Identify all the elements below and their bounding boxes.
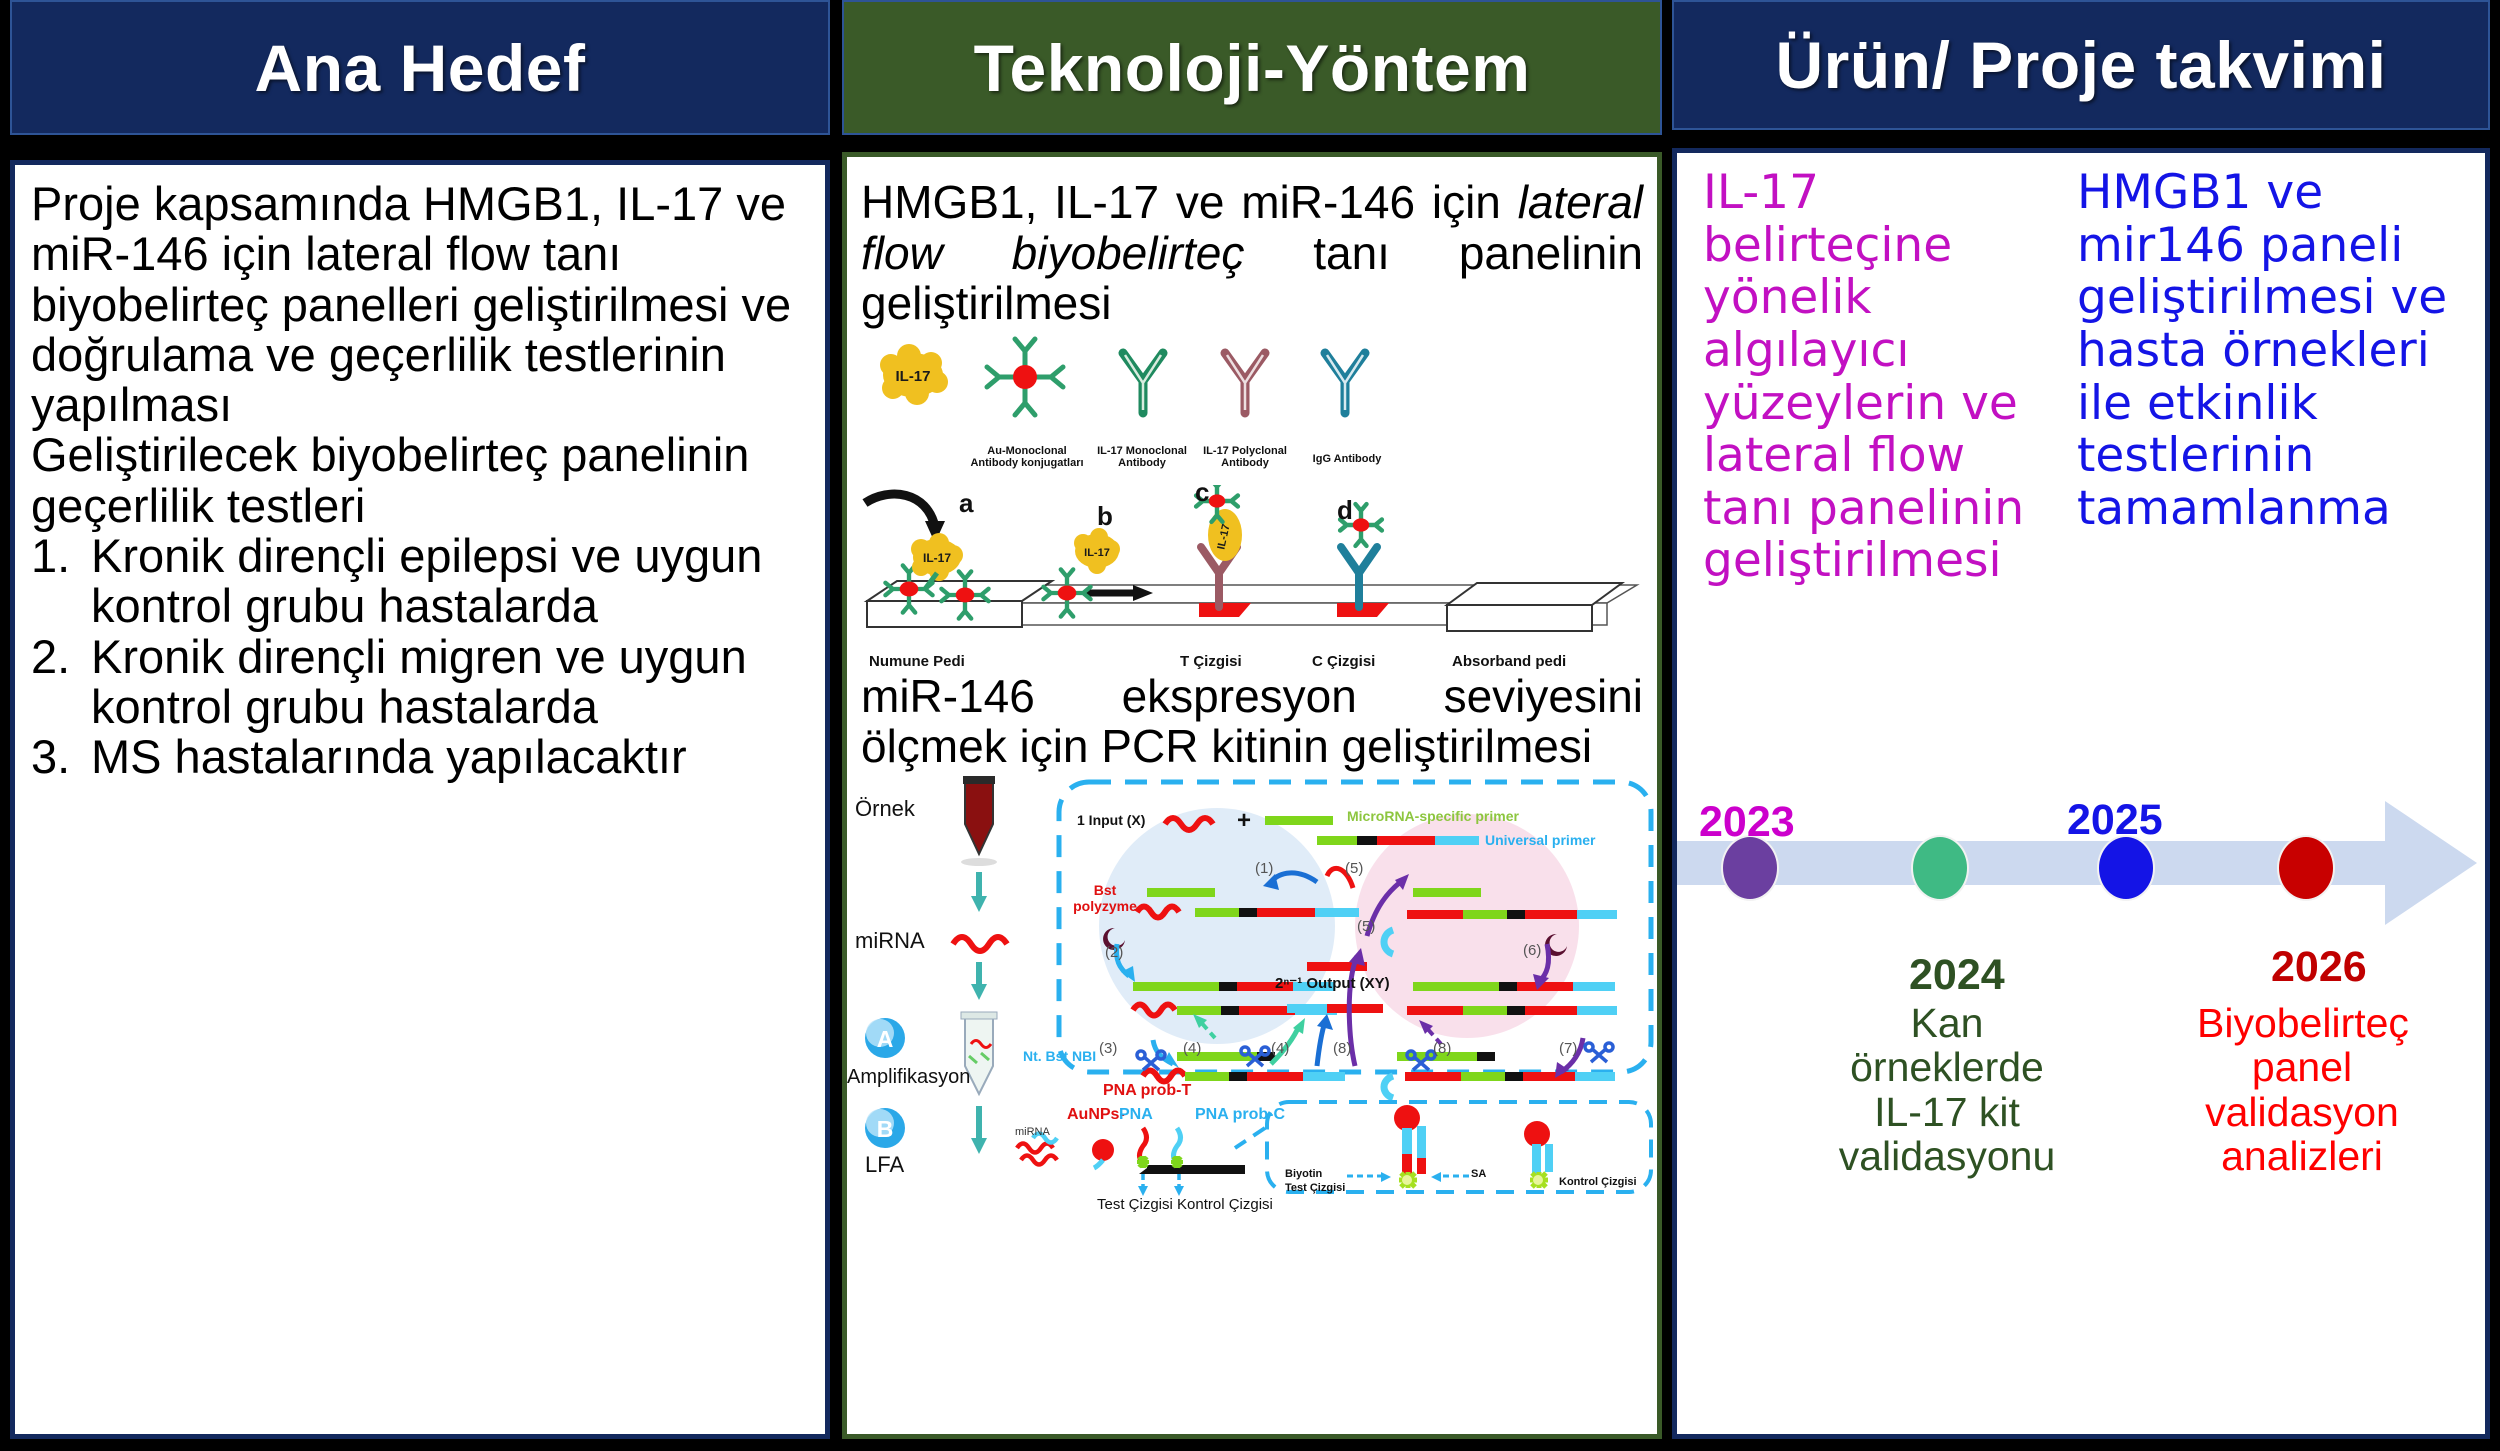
list-item-number: 2. [31, 632, 91, 733]
teknoloji-paragraph-1: HMGB1, IL-17 ve miR-146 için lateral flo… [847, 157, 1657, 329]
list-item-label: Kronik dirençli epilepsi ve uygun kontro… [91, 531, 809, 632]
step-letter-a: a [959, 488, 974, 518]
antibody-legend: IL-17 [880, 339, 1365, 415]
svg-text:+: + [1237, 807, 1251, 834]
lfa-label-pna-prob-t: PNA prob-T [1103, 1082, 1191, 1100]
panel-label-input: 1 Input (X) [1077, 812, 1145, 828]
milestone-dot-2026 [2277, 835, 2335, 901]
inset-label-test-cizgisi: Test Çizgisi [1285, 1182, 1345, 1194]
lfa-label-aunps: AuNPs- [1067, 1106, 1125, 1124]
lfa-label-test-cizgisi: Test Çizgisi [1097, 1196, 1173, 1213]
panel-label-nt-bst-nbi: Nt. Bst NBI [1023, 1048, 1096, 1064]
legend-label-au-monoclonal: Au-Monoclonal Antibody konjugatları [967, 445, 1087, 470]
legend-label-il17-monoclonal: IL-17 Monoclonal Antibody [1092, 445, 1192, 470]
svg-text:IL-17: IL-17 [895, 368, 930, 385]
step-letter-d: d [1337, 495, 1353, 525]
description-hmgb1-mir146: HMGB1 ve mir146 paneli geliştirilmesi ve… [2077, 167, 2457, 535]
column-ana-hedef: Ana Hedef Proje kapsamında HMGB1, IL-17 … [10, 0, 830, 1451]
list-item-label: Kronik dirençli migren ve uygun kontrol … [91, 632, 809, 733]
timeline-descriptions: IL-17 belirteçine yönelik algılayıcı yüz… [1677, 167, 2485, 737]
lfa-label-pna: PNA [1119, 1106, 1153, 1124]
step-number-8b: (8) [1433, 1040, 1451, 1057]
ana-hedef-numbered-list: 1. Kronik dirençli epilepsi ve uygun kon… [31, 531, 809, 782]
header-teknoloji-yontem-label: Teknoloji-Yöntem [974, 30, 1531, 106]
lateral-flow-assay-figure: IL-17 [847, 335, 1657, 665]
panel-takvim-body: IL-17 belirteçine yönelik algılayıcı yüz… [1672, 148, 2490, 1439]
list-item-number: 1. [31, 531, 91, 632]
strip-label-absorband-pedi: Absorband pedi [1452, 653, 1566, 670]
header-teknoloji-yontem: Teknoloji-Yöntem [842, 0, 1662, 135]
step-letter-b: b [1097, 501, 1113, 531]
column-urun-proje-takvimi: Ürün/ Proje takvimi IL-17 belirteçine yö… [1672, 0, 2490, 1451]
panel-ana-hedef-body: Proje kapsamında HMGB1, IL-17 ve miR-146… [10, 160, 830, 1439]
step-number-5b: (5) [1357, 918, 1375, 935]
step-number-7: (7) [1559, 1040, 1577, 1057]
svg-text:B: B [877, 1116, 894, 1142]
workflow-label-mirna: miRNA [855, 928, 925, 954]
milestone-dot-2024 [1911, 835, 1969, 901]
lfa-label-mirna: miRNA [1015, 1126, 1050, 1138]
milestone-year-2026: 2026 [2271, 943, 2367, 992]
strip-label-c-cizgisi: C Çizgisi [1312, 653, 1375, 670]
step-number-2: (2) [1105, 944, 1123, 961]
milestone-year-2023: 2023 [1699, 798, 1795, 847]
description-il17: IL-17 belirteçine yönelik algılayıcı yüz… [1703, 167, 2053, 588]
il17-blob-b: IL-17 [1074, 528, 1120, 574]
para2-italic: PCR [1101, 720, 1198, 772]
panel-label-output: 2ⁿ⁻¹ Output (XY) [1275, 974, 1390, 992]
list-item-label: MS hastalarında yapılacaktır [91, 732, 809, 782]
il17-blob-legend: IL-17 [880, 344, 948, 405]
svg-text:IL-17: IL-17 [923, 551, 951, 565]
ana-hedef-text: Proje kapsamında HMGB1, IL-17 ve miR-146… [15, 165, 825, 782]
workflow-label-lfa: LFA [865, 1152, 904, 1178]
workflow-left-column: A B [865, 776, 1007, 1154]
strip-label-numune-pedi: Numune Pedi [869, 653, 965, 670]
header-urun-proje-takvimi: Ürün/ Proje takvimi [1672, 0, 2490, 130]
panel-label-universal-primer: Universal primer [1485, 832, 1596, 848]
list-item: 1. Kronik dirençli epilepsi ve uygun kon… [31, 531, 809, 632]
au-conjugate-icon [987, 339, 1063, 415]
milestone-caption-2026: Biyobelirteç panel validasyon analizleri [2197, 1001, 2407, 1178]
step-number-5a: (5) [1345, 860, 1363, 877]
legend-label-igg: IgG Antibody [1302, 453, 1392, 466]
svg-text:A: A [877, 1026, 894, 1052]
header-ana-hedef-label: Ana Hedef [255, 30, 586, 106]
svg-text:IL-17: IL-17 [1084, 547, 1110, 559]
milestone-year-2025: 2025 [2067, 796, 2163, 845]
step-number-3: (3) [1099, 1040, 1117, 1057]
step-number-4b: (4) [1271, 1040, 1289, 1057]
milestone-year-2024: 2024 [1909, 951, 2005, 1000]
workflow-label-amplifikasyon: Amplifikasyon [847, 1066, 970, 1089]
lfa-label-pna-prob-c: PNA prob-C [1195, 1106, 1285, 1124]
il17-polyclonal-antibody-icon [1225, 353, 1265, 413]
igg-antibody-icon [1325, 353, 1365, 413]
inset-label-sa: SA [1471, 1168, 1486, 1180]
para2-part-b: kitinin geliştirilmesi [1198, 720, 1592, 772]
column-teknoloji-yontem: Teknoloji-Yöntem HMGB1, IL-17 ve miR-146… [842, 0, 1662, 1451]
legend-label-il17-polyclonal: IL-17 Polyclonal Antibody [1195, 445, 1295, 470]
inset-label-biyotin: Biyotin [1285, 1168, 1322, 1180]
step-number-8a: (8) [1333, 1040, 1351, 1057]
list-item: 3. MS hastalarında yapılacaktır [31, 732, 809, 782]
list-item-number: 3. [31, 732, 91, 782]
header-ana-hedef: Ana Hedef [10, 0, 830, 135]
list-item: 2. Kronik dirençli migren ve uygun kontr… [31, 632, 809, 733]
ana-hedef-paragraph-2: Geliştirilecek biyobelirteç panelinin ge… [31, 430, 809, 531]
step-letter-c: c [1195, 485, 1209, 507]
inset-label-kontrol-cizgisi: Kontrol Çizgisi [1559, 1176, 1637, 1188]
panel-label-microrna-primer: MicroRNA-specific primer [1347, 808, 1519, 824]
pcr-lfa-workflow-figure: A B + [847, 776, 1657, 1196]
panel-label-bst-polyzyme: Bst polyzyme [1063, 882, 1147, 914]
panel-teknoloji-body: HMGB1, IL-17 ve miR-146 için lateral flo… [842, 152, 1662, 1439]
slide-canvas: Ana Hedef Proje kapsamında HMGB1, IL-17 … [0, 0, 2500, 1451]
step-number-6: (6) [1523, 942, 1541, 959]
workflow-label-ornek: Örnek [855, 796, 915, 822]
step-number-1: (1) [1255, 860, 1273, 877]
strip-label-t-cizgisi: T Çizgisi [1180, 653, 1242, 670]
il17-monoclonal-antibody-icon [1123, 353, 1163, 413]
ana-hedef-paragraph-1: Proje kapsamında HMGB1, IL-17 ve miR-146… [31, 179, 809, 430]
milestone-caption-2024: Kan örneklerde IL-17 kit validasyonu [1827, 1001, 2067, 1178]
header-urun-proje-takvimi-label: Ürün/ Proje takvimi [1775, 27, 2386, 103]
para1-part-a: HMGB1, IL-17 ve miR-146 için [861, 176, 1518, 228]
step-number-4a: (4) [1183, 1040, 1201, 1057]
lfa-label-kontrol-cizgisi: Kontrol Çizgisi [1177, 1196, 1273, 1213]
